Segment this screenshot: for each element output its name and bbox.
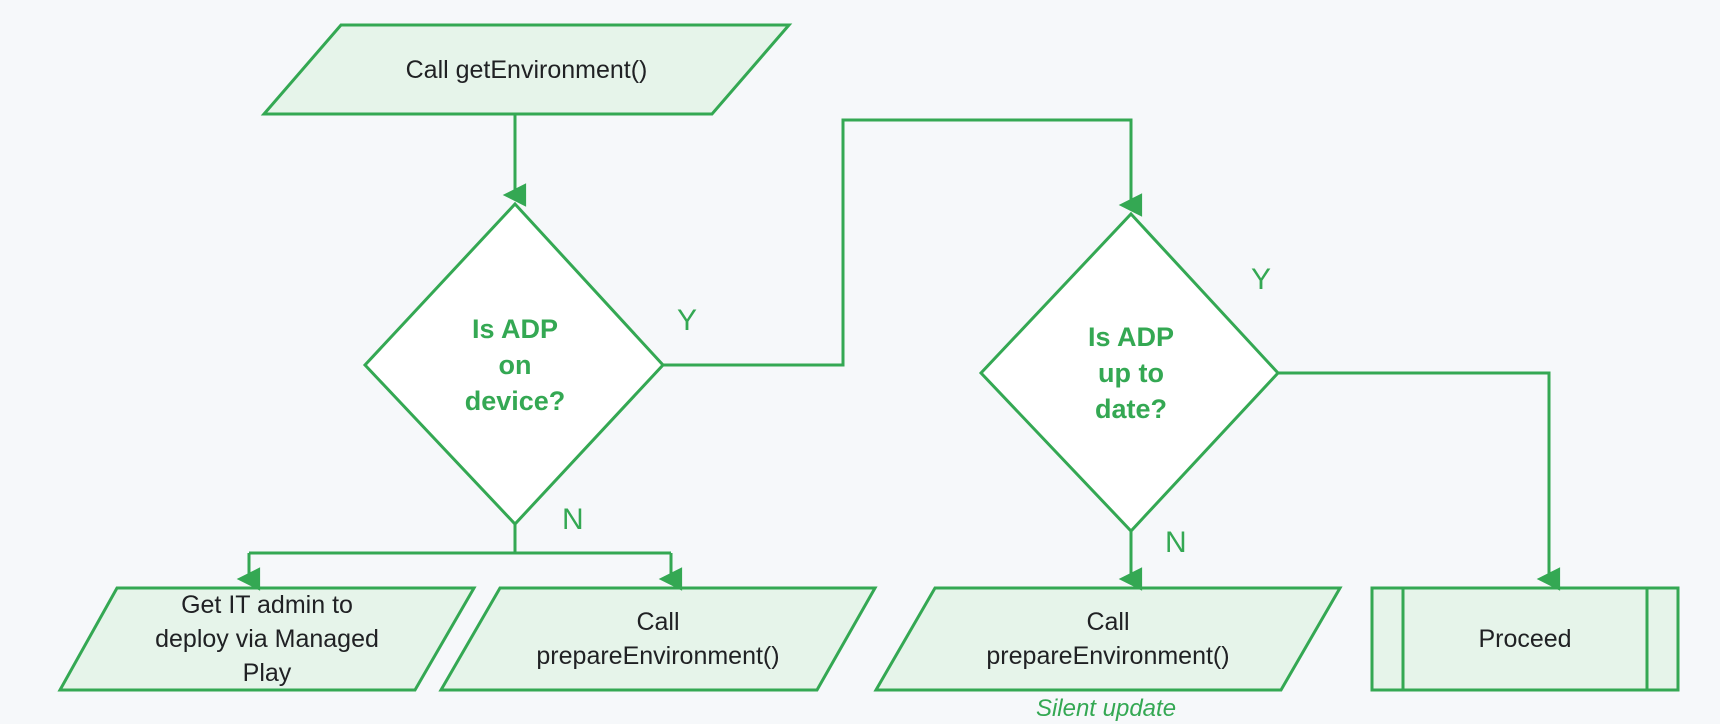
edge-label-no-left: N	[562, 505, 584, 535]
node-proceed[interactable]	[1372, 588, 1678, 690]
node-get-environment[interactable]	[264, 25, 789, 114]
edge-label-yes-left: Y	[677, 306, 697, 336]
node-prepare-environment-right[interactable]	[876, 588, 1340, 690]
edge-label-yes-right: Y	[1251, 265, 1271, 295]
edge-label-no-right: N	[1165, 528, 1187, 558]
node-get-it-admin-deploy[interactable]	[60, 588, 474, 690]
node-is-adp-up-to-date[interactable]	[981, 214, 1278, 531]
node-is-adp-on-device[interactable]	[365, 204, 663, 524]
edge-is-adp-up-to-date-yes-to-proceed	[1278, 373, 1549, 579]
annotation-silent-update: Silent update	[986, 695, 1226, 723]
flowchart-graphics	[0, 0, 1720, 724]
flowchart-canvas: Call getEnvironment() Is ADP on device? …	[0, 0, 1720, 724]
node-prepare-environment-left[interactable]	[441, 588, 875, 690]
